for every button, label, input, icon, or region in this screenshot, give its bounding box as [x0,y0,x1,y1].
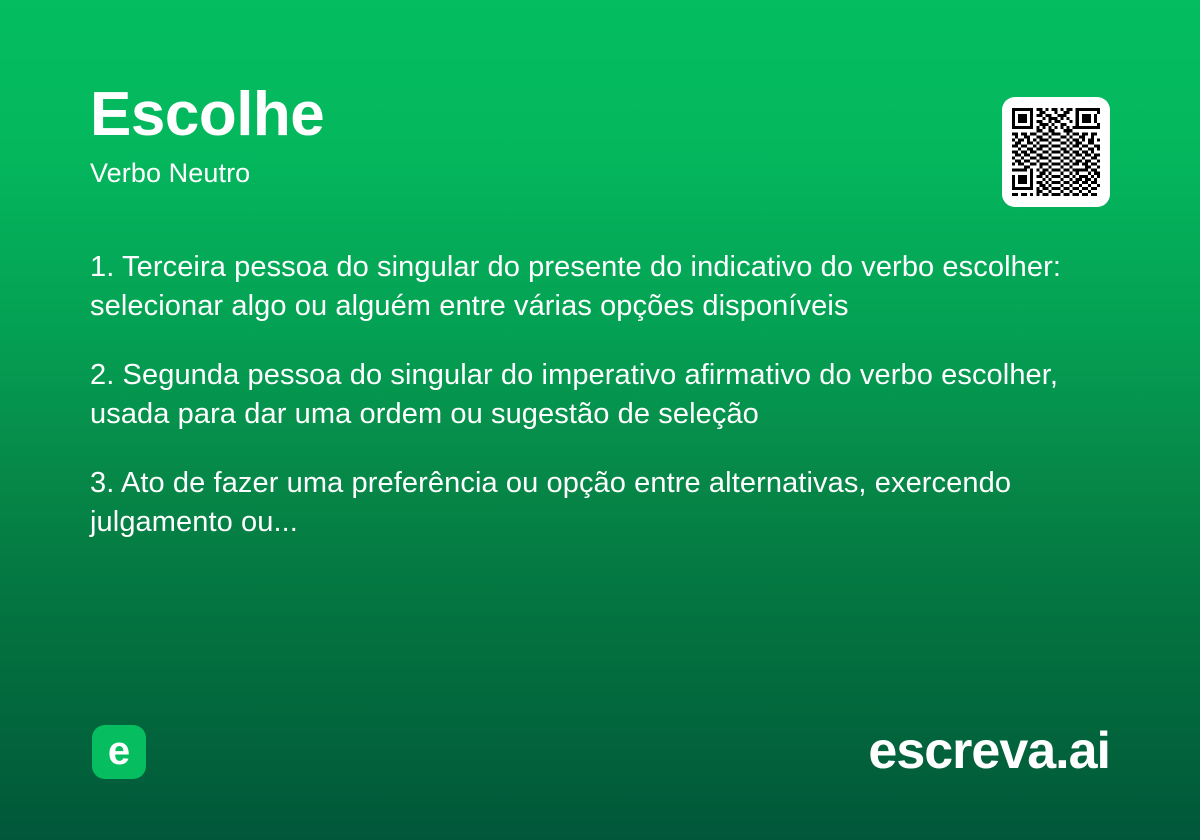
page-title: Escolhe [90,84,950,146]
brand-logo-letter: e [108,731,130,771]
definition-item: 1. Terceira pessoa do singular do presen… [90,248,1105,325]
definition-list: 1. Terceira pessoa do singular do presen… [90,248,1105,541]
definition-item: 3. Ato de fazer uma preferência ou opção… [90,464,1105,541]
word-class-label: Verbo Neutro [90,160,950,187]
brand-wordmark: escreva.ai [868,722,1110,780]
card-header: Escolhe Verbo Neutro [90,84,950,187]
definition-item: 2. Segunda pessoa do singular do imperat… [90,356,1105,433]
qr-code-container[interactable] [1002,97,1110,207]
qr-code-icon [1012,108,1100,196]
brand-logo-icon[interactable]: e [92,725,146,779]
dictionary-card: Escolhe Verbo Neutro 1. Terceira pessoa … [0,0,1200,840]
